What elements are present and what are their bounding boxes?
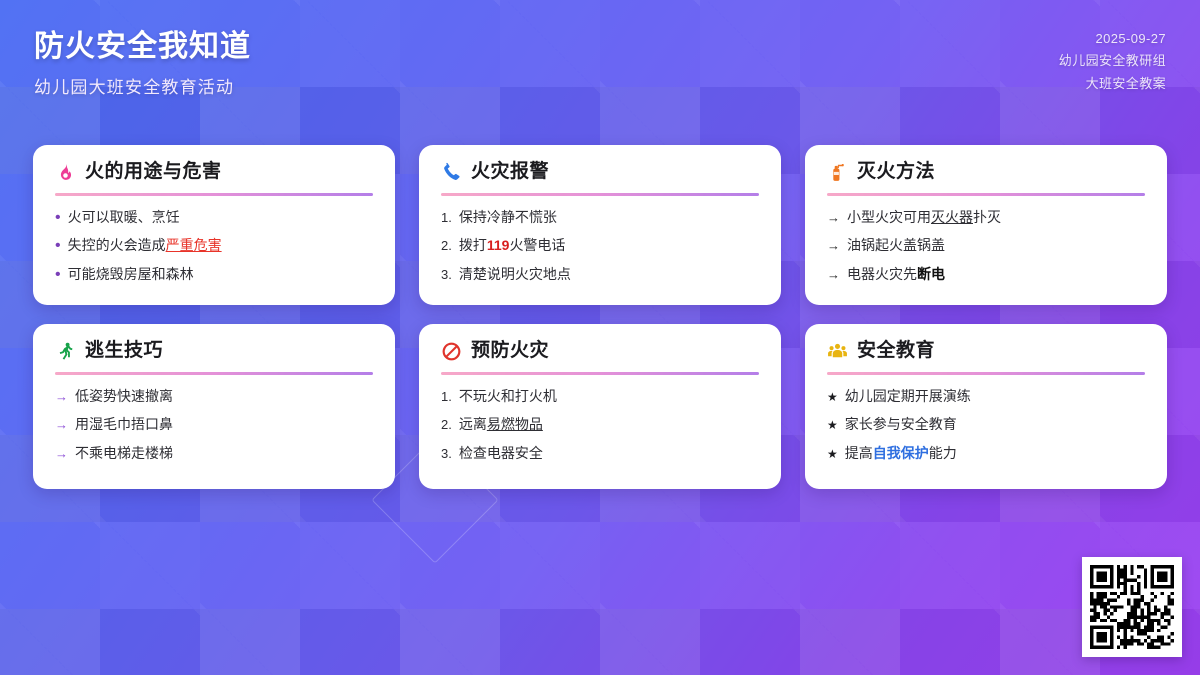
plain-text: 保持冷静不慌张	[459, 209, 557, 225]
meta-block: 2025-09-27 幼儿园安全教研组 大班安全教案	[1059, 22, 1166, 95]
list-item: →小型火灾可用灭火器扑灭	[827, 209, 1145, 227]
card-divider	[55, 193, 373, 196]
plain-text: 提高	[845, 445, 873, 461]
list-item-text: 用湿毛巾捂口鼻	[75, 416, 173, 434]
qr-code-container[interactable]	[1082, 557, 1182, 657]
card-item-list: ★幼儿园定期开展演练★家长参与安全教育★提高自我保护能力	[827, 388, 1145, 463]
plain-text: 不乘电梯走楼梯	[75, 445, 173, 461]
fire-extinguisher-icon	[827, 162, 848, 183]
list-item-text: 不乘电梯走楼梯	[75, 445, 173, 463]
list-item-text: 不玩火和打火机	[459, 388, 557, 406]
plain-text: 火警电话	[509, 237, 565, 253]
card-header: 安全教育	[827, 341, 1145, 362]
list-item-text: 拨打119火警电话	[459, 237, 566, 255]
list-item: ★幼儿园定期开展演练	[827, 388, 1145, 406]
card-title: 灭火方法	[857, 162, 935, 183]
qr-code	[1090, 565, 1174, 649]
title-block: 防火安全我知道 幼儿园大班安全教育活动	[34, 22, 251, 98]
list-marker: 1.	[441, 210, 452, 226]
running-person-icon	[55, 341, 76, 362]
highlight-text: 灭火器	[931, 209, 973, 225]
card-grid: 火的用途与危害•火可以取暖、烹饪•失控的火会造成严重危害•可能烧毁房屋和森林火灾…	[33, 145, 1167, 489]
list-marker: →	[55, 446, 68, 462]
list-item-text: 保持冷静不慌张	[459, 209, 557, 227]
card-header: 火灾报警	[441, 162, 759, 183]
list-marker: →	[55, 389, 68, 405]
list-item-text: 提高自我保护能力	[845, 445, 957, 463]
list-marker: 2.	[441, 417, 452, 433]
highlight-text: 119	[487, 237, 510, 253]
list-item: ★提高自我保护能力	[827, 445, 1145, 463]
list-item: 3.检查电器安全	[441, 445, 759, 463]
plain-text: 家长参与安全教育	[845, 416, 957, 432]
list-item-text: 清楚说明火灾地点	[459, 266, 571, 284]
list-item: •可能烧毁房屋和森林	[55, 266, 373, 284]
plain-text: 火可以取暖、烹饪	[68, 209, 180, 225]
list-marker: →	[55, 417, 68, 433]
list-item: 1.保持冷静不慌张	[441, 209, 759, 227]
card-title: 安全教育	[857, 341, 935, 362]
highlight-text: 严重危害	[166, 237, 222, 253]
card-safety-education[interactable]: 安全教育★幼儿园定期开展演练★家长参与安全教育★提高自我保护能力	[805, 324, 1167, 489]
card-divider	[55, 372, 373, 375]
card-header: 火的用途与危害	[55, 162, 373, 183]
card-item-list: →小型火灾可用灭火器扑灭→油锅起火盖锅盖→电器火灾先断电	[827, 209, 1145, 284]
list-item: 2.远离易燃物品	[441, 416, 759, 434]
card-item-list: 1.不玩火和打火机2.远离易燃物品3.检查电器安全	[441, 388, 759, 463]
plain-text: 小型火灾可用	[847, 209, 931, 225]
list-marker: 3.	[441, 446, 452, 462]
page-subtitle: 幼儿园大班安全教育活动	[34, 73, 251, 98]
list-item: •火可以取暖、烹饪	[55, 209, 373, 227]
card-header: 逃生技巧	[55, 341, 373, 362]
plain-text: 低姿势快速撤离	[75, 388, 173, 404]
card-header: 灭火方法	[827, 162, 1145, 183]
card-fire-uses-hazards[interactable]: 火的用途与危害•火可以取暖、烹饪•失控的火会造成严重危害•可能烧毁房屋和森林	[33, 145, 395, 305]
card-divider	[827, 193, 1145, 196]
list-item-text: 失控的火会造成严重危害	[68, 237, 222, 255]
list-item-text: 幼儿园定期开展演练	[845, 388, 971, 406]
prohibition-icon	[441, 341, 462, 362]
list-marker: ★	[827, 390, 838, 405]
list-item-text: 低姿势快速撤离	[75, 388, 173, 406]
list-item-text: 电器火灾先断电	[847, 266, 945, 284]
highlight-text: 易燃物品	[487, 416, 543, 432]
list-marker: 3.	[441, 267, 452, 283]
plain-text: 清楚说明火灾地点	[459, 266, 571, 282]
card-divider	[441, 193, 759, 196]
slide-header: 防火安全我知道 幼儿园大班安全教育活动 2025-09-27 幼儿园安全教研组 …	[0, 0, 1200, 130]
card-extinguish-methods[interactable]: 灭火方法→小型火灾可用灭火器扑灭→油锅起火盖锅盖→电器火灾先断电	[805, 145, 1167, 305]
card-title: 逃生技巧	[85, 341, 163, 362]
flame-icon	[55, 162, 76, 183]
list-marker: 1.	[441, 389, 452, 405]
card-title: 火灾报警	[471, 162, 549, 183]
plain-text: 油锅起火盖锅盖	[847, 237, 945, 253]
list-marker: →	[827, 210, 840, 226]
list-item: ★家长参与安全教育	[827, 416, 1145, 434]
list-item-text: 小型火灾可用灭火器扑灭	[847, 209, 1001, 227]
meta-date: 2025-09-27	[1059, 28, 1166, 50]
plain-text: 检查电器安全	[459, 445, 543, 461]
list-item: →不乘电梯走楼梯	[55, 445, 373, 463]
list-marker: ★	[827, 447, 838, 462]
card-item-list: →低姿势快速撤离→用湿毛巾捂口鼻→不乘电梯走楼梯	[55, 388, 373, 463]
highlight-text: 自我保护	[873, 445, 929, 461]
list-marker: •	[55, 267, 61, 283]
card-fire-alarm[interactable]: 火灾报警1.保持冷静不慌张2.拨打119火警电话3.清楚说明火灾地点	[419, 145, 781, 305]
plain-text: 用湿毛巾捂口鼻	[75, 416, 173, 432]
list-item: 2.拨打119火警电话	[441, 237, 759, 255]
list-marker: •	[55, 238, 61, 254]
card-divider	[441, 372, 759, 375]
list-item-text: 火可以取暖、烹饪	[68, 209, 180, 227]
plain-text: 拨打	[459, 237, 487, 253]
list-item: 1.不玩火和打火机	[441, 388, 759, 406]
meta-doctype: 大班安全教案	[1059, 73, 1166, 95]
people-group-icon	[827, 341, 848, 362]
plain-text: 电器火灾先	[847, 266, 917, 282]
list-marker: •	[55, 210, 61, 226]
list-item-text: 家长参与安全教育	[845, 416, 957, 434]
card-escape-skills[interactable]: 逃生技巧→低姿势快速撤离→用湿毛巾捂口鼻→不乘电梯走楼梯	[33, 324, 395, 489]
page-title: 防火安全我知道	[34, 28, 251, 66]
card-fire-prevention[interactable]: 预防火灾1.不玩火和打火机2.远离易燃物品3.检查电器安全	[419, 324, 781, 489]
list-item-text: 检查电器安全	[459, 445, 543, 463]
meta-department: 幼儿园安全教研组	[1059, 50, 1166, 72]
card-title: 预防火灾	[471, 341, 549, 362]
list-item-text: 油锅起火盖锅盖	[847, 237, 945, 255]
list-item: →低姿势快速撤离	[55, 388, 373, 406]
plain-text: 不玩火和打火机	[459, 388, 557, 404]
plain-text: 可能烧毁房屋和森林	[68, 266, 194, 282]
phone-icon	[441, 162, 462, 183]
list-marker: ★	[827, 418, 838, 433]
highlight-text: 断电	[917, 266, 945, 282]
list-item: 3.清楚说明火灾地点	[441, 266, 759, 284]
card-item-list: •火可以取暖、烹饪•失控的火会造成严重危害•可能烧毁房屋和森林	[55, 209, 373, 284]
plain-text: 扑灭	[973, 209, 1001, 225]
list-marker: →	[827, 267, 840, 283]
plain-text: 幼儿园定期开展演练	[845, 388, 971, 404]
list-item-text: 远离易燃物品	[459, 416, 543, 434]
list-marker: →	[827, 238, 840, 254]
list-item: →用湿毛巾捂口鼻	[55, 416, 373, 434]
card-header: 预防火灾	[441, 341, 759, 362]
plain-text: 能力	[929, 445, 957, 461]
card-title: 火的用途与危害	[85, 162, 222, 183]
card-item-list: 1.保持冷静不慌张2.拨打119火警电话3.清楚说明火灾地点	[441, 209, 759, 284]
list-item: •失控的火会造成严重危害	[55, 237, 373, 255]
card-divider	[827, 372, 1145, 375]
list-item: →电器火灾先断电	[827, 266, 1145, 284]
plain-text: 远离	[459, 416, 487, 432]
plain-text: 失控的火会造成	[68, 237, 166, 253]
list-item-text: 可能烧毁房屋和森林	[68, 266, 194, 284]
list-item: →油锅起火盖锅盖	[827, 237, 1145, 255]
list-marker: 2.	[441, 238, 452, 254]
